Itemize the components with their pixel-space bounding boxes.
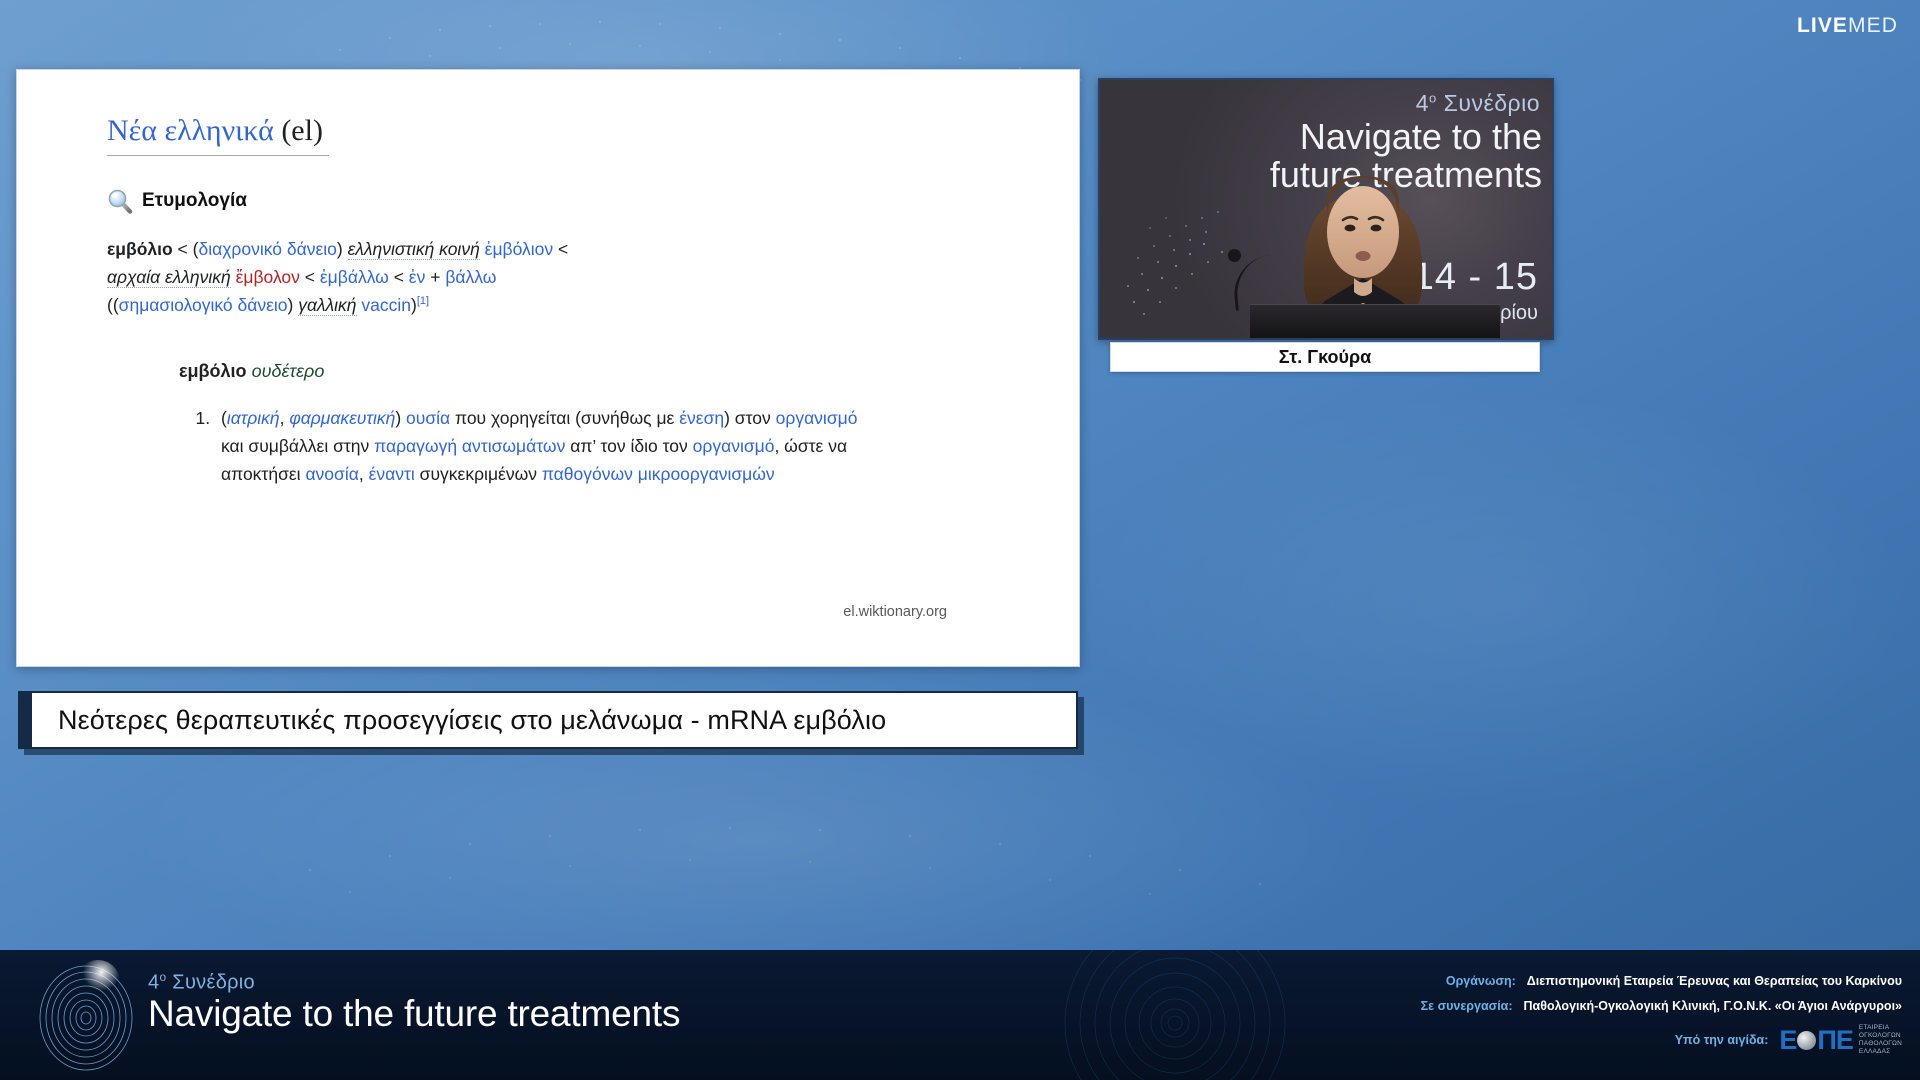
video-congress-word: Συνέδριο bbox=[1444, 90, 1540, 116]
podium bbox=[1250, 304, 1500, 338]
etymology-line: ((σημασιολογικό δάνειο) γαλλική vaccin)[… bbox=[107, 291, 887, 319]
session-title: Νεότερες θεραπευτικές προσεγγίσεις στο μ… bbox=[32, 705, 886, 736]
context-label-link[interactable]: φαρμακευτική bbox=[289, 408, 395, 428]
text-run: ) bbox=[288, 295, 299, 315]
reference-marker[interactable]: [1] bbox=[417, 295, 429, 307]
livemed-logo-med: MED bbox=[1848, 14, 1898, 37]
text-run: < ( bbox=[173, 239, 199, 259]
organizer-label: Οργάνωση: bbox=[1409, 974, 1527, 988]
session-title-bar: Νεότερες θεραπευτικές προσεγγίσεις στο μ… bbox=[18, 691, 1078, 749]
footer-congress-word: Συνέδριο bbox=[172, 972, 255, 994]
magnifying-glass-icon bbox=[107, 188, 133, 214]
text-run: και συμβάλλει στην bbox=[221, 436, 374, 456]
wiki-link[interactable]: οργανισμό bbox=[776, 408, 858, 428]
text-run: , bbox=[359, 464, 369, 484]
eope-subtext-line: Παθολογων bbox=[1859, 1040, 1902, 1048]
text-run: ) bbox=[395, 408, 406, 428]
eope-subtext-line: Εταιρεια bbox=[1859, 1024, 1902, 1032]
footer-ordinal-number: 4 bbox=[148, 972, 159, 994]
footer-brand-title: Navigate to the future treatments bbox=[148, 993, 680, 1035]
organizer-row: Οργάνωση: Διεπιστημονική Εταιρεία Έρευνα… bbox=[1406, 974, 1902, 988]
wiki-link[interactable]: ένεση bbox=[679, 408, 724, 428]
wiki-link[interactable]: ανοσία bbox=[305, 464, 358, 484]
text-run: < bbox=[553, 239, 568, 259]
eope-wordmark: E ΠE bbox=[1779, 1027, 1853, 1054]
text-run: συγκεκριμένων bbox=[415, 464, 542, 484]
text-run: που χορηγείται (συνήθως με bbox=[450, 408, 679, 428]
video-ordinal-number: 4 bbox=[1416, 90, 1429, 116]
collaborator-label: Σε συνεργασία: bbox=[1406, 999, 1524, 1013]
etymology-line: αρχαία ελληνική ἔμβολον < ἐμβάλλω < ἐν +… bbox=[107, 263, 887, 291]
wiki-link[interactable]: ἐν bbox=[409, 267, 426, 287]
wiki-link[interactable]: σημασιολογικό δάνειο bbox=[119, 295, 288, 315]
text-run: απ’ τον ίδιο τον bbox=[565, 436, 692, 456]
video-congress-ordinal: 4ο Συνέδριο bbox=[1416, 90, 1540, 117]
eope-disc-icon bbox=[1797, 1031, 1816, 1050]
speaker-name-bar: Στ. Γκούρα bbox=[1110, 342, 1540, 372]
auspices-row: Υπό την αιγίδα: E ΠE ΕταιρειαΟγκολογωνΠα… bbox=[1406, 1024, 1902, 1057]
wiki-link[interactable]: οργανισμό bbox=[693, 436, 775, 456]
livemed-logo-live: LIVE bbox=[1797, 14, 1848, 37]
congress-logo-icon bbox=[28, 956, 148, 1076]
eope-subtext-line: Ογκολογων bbox=[1859, 1032, 1902, 1040]
etymology-text: εμβόλιο < (διαχρονικό δάνειο) ελληνιστικ… bbox=[107, 235, 887, 320]
source-attribution: el.wiktionary.org bbox=[843, 604, 947, 620]
language-heading-code: (el) bbox=[274, 114, 323, 147]
eope-subtext: ΕταιρειαΟγκολογωνΠαθολογωνΕλλαδας bbox=[1859, 1024, 1902, 1057]
wiki-link[interactable]: διαχρονικό δάνειο bbox=[198, 239, 336, 259]
definition-list: (ιατρική, φαρμακευτική) ουσία που χορηγε… bbox=[215, 404, 875, 489]
slide-content: Νέα ελληνικά (el) bbox=[17, 70, 1079, 666]
wiki-link[interactable]: παραγωγή αντισωμάτων bbox=[374, 436, 565, 456]
speaker-video-thumbnail[interactable]: 4ο Συνέδριο Navigate to the future treat… bbox=[1098, 78, 1554, 340]
text-run: < bbox=[300, 267, 320, 287]
language-label: γαλλική bbox=[298, 295, 356, 316]
footer-organizers: Οργάνωση: Διεπιστημονική Εταιρεία Έρευνα… bbox=[1406, 974, 1902, 1068]
speaker-name: Στ. Γκούρα bbox=[1279, 347, 1371, 368]
lemma-word: εμβόλιο bbox=[179, 361, 247, 381]
eope-mark-right: ΠE bbox=[1817, 1027, 1853, 1054]
footer-congress-ordinal: 4ο Συνέδριο bbox=[148, 970, 680, 995]
lemma-entry: εμβόλιο ουδέτερο bbox=[179, 361, 1019, 382]
lemma-gender: ουδέτερο bbox=[252, 361, 325, 381]
definition-item: (ιατρική, φαρμακευτική) ουσία που χορηγε… bbox=[215, 404, 875, 489]
text-run: < bbox=[389, 267, 409, 287]
wiki-link[interactable]: ουσία bbox=[406, 408, 450, 428]
wiktionary-language-heading: Νέα ελληνικά (el) bbox=[107, 114, 329, 156]
footer-ordinal-suffix: ο bbox=[159, 970, 166, 984]
text-run: (( bbox=[107, 295, 119, 315]
wiki-link[interactable]: έναντι bbox=[369, 464, 415, 484]
footer-brand: 4ο Συνέδριο Navigate to the future treat… bbox=[148, 970, 680, 1035]
bold-word: εμβόλιο bbox=[107, 239, 173, 259]
language-label: ελληνιστική κοινή bbox=[348, 239, 480, 260]
wiki-link[interactable]: παθογόνων μικροοργανισμών bbox=[542, 464, 775, 484]
etymology-line: εμβόλιο < (διαχρονικό δάνειο) ελληνιστικ… bbox=[107, 235, 887, 263]
language-label: αρχαία ελληνική bbox=[107, 267, 231, 288]
etymology-section-header: Ετυμολογία bbox=[107, 188, 1019, 214]
text-run: + bbox=[425, 267, 445, 287]
wiki-link[interactable]: ἐμβόλιον bbox=[485, 239, 553, 259]
text-run: , bbox=[280, 408, 290, 428]
footer-band: 4ο Συνέδριο Navigate to the future treat… bbox=[0, 950, 1920, 1080]
text-run: ) bbox=[337, 239, 348, 259]
context-label-link[interactable]: ιατρική bbox=[227, 408, 280, 428]
text-run: ) στον bbox=[724, 408, 776, 428]
presentation-slide[interactable]: Νέα ελληνικά (el) bbox=[16, 69, 1080, 667]
wiki-redlink[interactable]: ἔμβολον bbox=[236, 267, 300, 287]
livemed-logo: LIVEMED bbox=[1797, 14, 1898, 38]
eope-mark-left: E bbox=[1779, 1027, 1796, 1054]
wiki-link[interactable]: vaccin bbox=[361, 295, 411, 315]
language-heading-link[interactable]: Νέα ελληνικά bbox=[107, 114, 274, 147]
etymology-title: Ετυμολογία bbox=[142, 190, 247, 212]
microphone-head-icon bbox=[1228, 249, 1241, 262]
wiki-link[interactable]: ἐμβάλλω bbox=[320, 267, 389, 287]
decorative-dot-wave-bottom bbox=[250, 770, 1350, 910]
collaborator-value: Παθολογική-Ογκολογική Κλινική, Γ.Ο.Ν.Κ. … bbox=[1524, 999, 1902, 1013]
video-ordinal-suffix: ο bbox=[1429, 90, 1437, 105]
footer-ring-graphic bbox=[1060, 950, 1290, 1080]
eope-subtext-line: Ελλαδας bbox=[1859, 1048, 1902, 1056]
organizer-value: Διεπιστημονική Εταιρεία Έρευνας και Θερα… bbox=[1527, 974, 1902, 988]
wiki-link[interactable]: βάλλω bbox=[445, 267, 496, 287]
auspices-label: Υπό την αιγίδα: bbox=[1661, 1033, 1779, 1047]
collaborator-row: Σε συνεργασία: Παθολογική-Ογκολογική Κλι… bbox=[1406, 999, 1902, 1013]
eope-logo: E ΠE ΕταιρειαΟγκολογωνΠαθολογωνΕλλαδας bbox=[1779, 1024, 1902, 1057]
